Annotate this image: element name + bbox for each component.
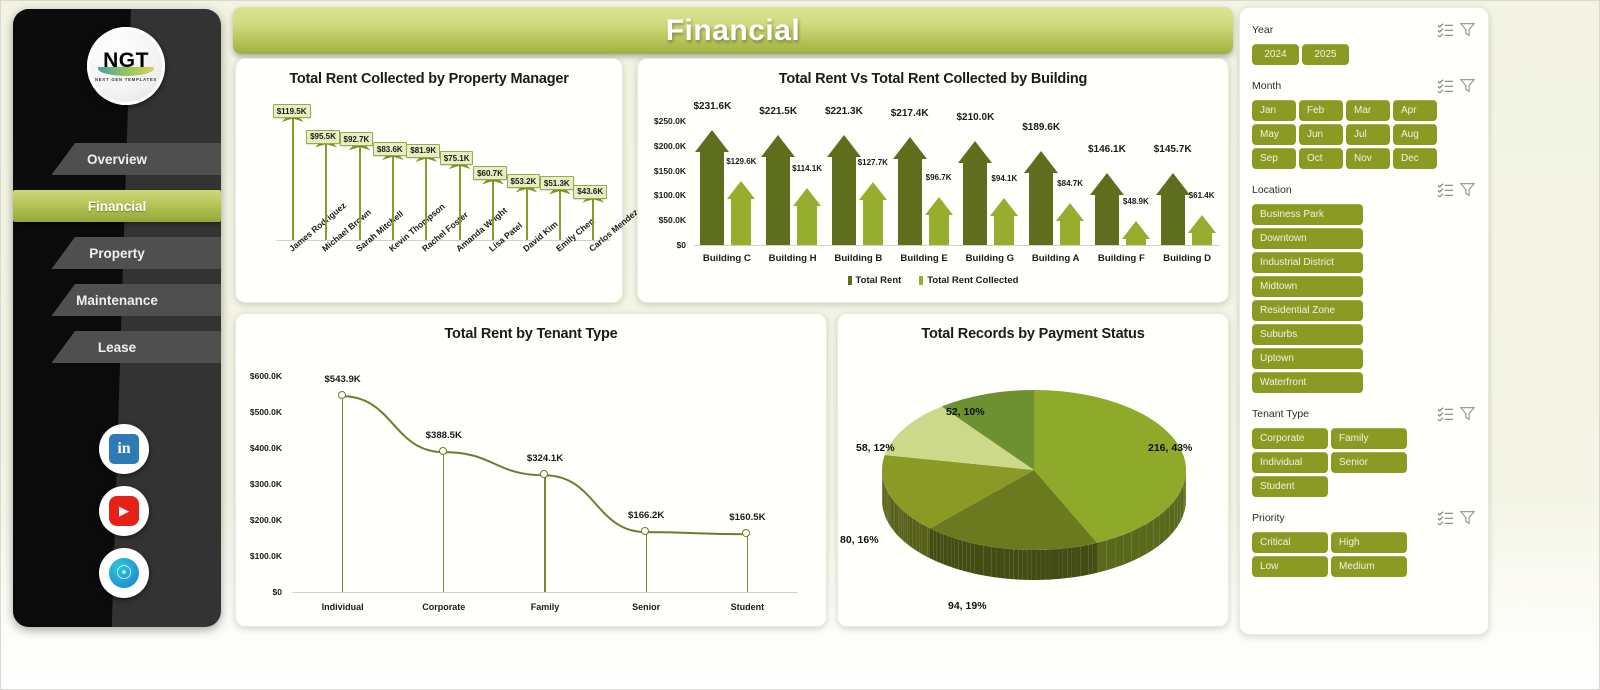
filter-chip-waterfront[interactable]: Waterfront xyxy=(1252,372,1363,393)
arrow-head xyxy=(761,135,795,157)
arrow-shaft xyxy=(1192,233,1212,245)
legend-item: Total Rent Collected xyxy=(919,275,1018,286)
data-label: $189.6K xyxy=(1007,122,1075,133)
chart-arrow-bar xyxy=(1090,173,1124,245)
x-axis-tick: Senior xyxy=(602,602,690,612)
arrow-head xyxy=(827,135,861,157)
chart-card-property-manager: Total Rent Collected by Property Manager… xyxy=(235,58,623,303)
arrow-shaft xyxy=(797,206,817,245)
filter-chip-residential-zone[interactable]: Residential Zone xyxy=(1252,300,1363,321)
x-axis-tick: Building B xyxy=(826,253,892,264)
chart-arrow-bar xyxy=(727,181,755,245)
linkedin-icon: in xyxy=(109,434,139,464)
filter-label: Year xyxy=(1252,24,1432,36)
data-label: $95.5K xyxy=(306,130,340,144)
sidebar-item-label: Lease xyxy=(98,340,136,355)
pie-chart xyxy=(838,342,1230,627)
arrow-shaft xyxy=(1126,239,1146,245)
y-axis-tick: $0 xyxy=(638,240,686,250)
filter-group-location: Location Business ParkDowntownIndustrial… xyxy=(1252,182,1476,393)
multi-select-icon[interactable] xyxy=(1437,22,1454,37)
filter-header: Month xyxy=(1252,78,1476,93)
data-label: $543.9K xyxy=(315,374,371,385)
data-label: $92.7K xyxy=(340,132,374,146)
arrow-head xyxy=(925,197,953,215)
multi-select-icon[interactable] xyxy=(1437,182,1454,197)
arrow-shaft xyxy=(863,200,883,245)
logo: NGT NEXT GEN TEMPLATES xyxy=(87,27,165,105)
sidebar-item-financial[interactable]: Financial xyxy=(13,190,221,222)
data-label: $83.6K xyxy=(373,142,407,156)
clear-filter-icon[interactable] xyxy=(1459,510,1476,525)
chart-title: Total Rent by Tenant Type xyxy=(236,314,826,342)
clear-filter-icon[interactable] xyxy=(1459,406,1476,421)
chart-stem xyxy=(292,113,294,240)
filter-chip-student[interactable]: Student xyxy=(1252,476,1328,497)
sidebar-nav: Overview Financial Property Maintenance … xyxy=(13,143,221,378)
chart-stem xyxy=(425,153,427,240)
arrow-head xyxy=(958,141,992,163)
filter-chip-apr[interactable]: Apr xyxy=(1393,100,1437,121)
chart-arrow-bar xyxy=(1024,151,1058,245)
chart-stem xyxy=(592,194,594,240)
x-axis-tick: Building F xyxy=(1089,253,1155,264)
arrow-shaft xyxy=(898,159,922,245)
x-axis-tick: Building E xyxy=(891,253,957,264)
pie-slice-label: 52, 10% xyxy=(946,406,985,418)
arrow-head xyxy=(893,137,927,159)
filter-chip-2025[interactable]: 2025 xyxy=(1302,44,1349,65)
filter-chip-may[interactable]: May xyxy=(1252,124,1296,145)
y-axis-tick: $250.0K xyxy=(638,116,686,126)
x-axis-tick: Corporate xyxy=(400,602,488,612)
filter-chip-senior[interactable]: Senior xyxy=(1331,452,1407,473)
arrow-head xyxy=(793,188,821,206)
filter-chip-jul[interactable]: Jul xyxy=(1346,124,1390,145)
legend-label: Total Rent xyxy=(856,275,902,286)
legend-swatch xyxy=(919,276,923,285)
data-label: $60.7K xyxy=(473,166,507,180)
x-axis-tick: Building D xyxy=(1154,253,1220,264)
chart-arrow-bar xyxy=(990,198,1018,245)
clear-filter-icon[interactable] xyxy=(1459,22,1476,37)
chart-plot-area: $0$50.0K$100.0K$150.0K$200.0K$250.0K$231… xyxy=(638,87,1228,302)
arrow-shaft xyxy=(1161,195,1185,245)
filter-chip-suburbs[interactable]: Suburbs xyxy=(1252,324,1363,345)
filter-chip-jun[interactable]: Jun xyxy=(1299,124,1343,145)
logo-swoosh-icon xyxy=(98,67,154,76)
arrow-head xyxy=(1122,221,1150,239)
y-axis-tick: $100.0K xyxy=(638,190,686,200)
social-links: in ▶ ☉ xyxy=(99,424,149,610)
filter-chip-oct[interactable]: Oct xyxy=(1299,148,1343,169)
data-label: $231.6K xyxy=(678,101,746,112)
logo-subtitle: NEXT GEN TEMPLATES xyxy=(95,77,157,82)
chart-arrow-bar xyxy=(893,137,927,245)
filter-header: Priority xyxy=(1252,510,1476,525)
chart-stem xyxy=(646,532,647,592)
filter-header: Year xyxy=(1252,22,1476,37)
data-point xyxy=(338,391,346,399)
filter-chip-family[interactable]: Family xyxy=(1331,428,1407,449)
legend-item: Total Rent xyxy=(848,275,902,286)
arrow-head xyxy=(1090,173,1124,195)
chart-stem xyxy=(359,141,361,240)
chart-card-building: Total Rent Vs Total Rent Collected by Bu… xyxy=(637,58,1229,303)
data-label: $53.2K xyxy=(507,174,541,188)
sidebar-item-overview[interactable]: Overview xyxy=(13,143,221,175)
website-link[interactable]: ☉ xyxy=(99,548,149,598)
chart-arrow-bar xyxy=(925,197,953,245)
y-axis-tick: $200.0K xyxy=(638,141,686,151)
filter-group-year: Year 20242025 xyxy=(1252,22,1476,65)
filter-chip-business-park[interactable]: Business Park xyxy=(1252,204,1363,225)
x-axis-tick: Individual xyxy=(299,602,387,612)
data-label: $146.1K xyxy=(1073,144,1141,155)
data-label: $75.1K xyxy=(440,151,474,165)
arrow-head xyxy=(990,198,1018,216)
data-label: $160.5K xyxy=(719,512,775,523)
chart-arrow-bar xyxy=(1188,215,1216,245)
chart-arrow-bar xyxy=(793,188,821,245)
arrow-head xyxy=(1056,203,1084,221)
filter-chip-dec[interactable]: Dec xyxy=(1393,148,1437,169)
data-label: $221.5K xyxy=(744,106,812,117)
chart-arrow-bar xyxy=(958,141,992,245)
x-axis-tick: Building G xyxy=(957,253,1023,264)
filter-chips: Business ParkDowntownIndustrial District… xyxy=(1252,204,1476,393)
filter-chip-feb[interactable]: Feb xyxy=(1299,100,1343,121)
sidebar-item-label: Overview xyxy=(87,152,147,167)
chart-stem xyxy=(526,183,528,240)
filter-chip-downtown[interactable]: Downtown xyxy=(1252,228,1363,249)
chart-plot-area: 216, 43%94, 19%80, 16%58, 12%52, 10% xyxy=(838,342,1228,627)
chart-stem xyxy=(342,396,343,592)
x-axis-label: Carlos Mendez xyxy=(587,207,640,254)
filter-group-month: Month JanFebMarAprMayJunJulAugSepOctNovD… xyxy=(1252,78,1476,169)
pie-slice-label: 80, 16% xyxy=(840,534,879,546)
filter-chips: JanFebMarAprMayJunJulAugSepOctNovDec xyxy=(1252,100,1476,169)
chart-arrow-bar xyxy=(761,135,795,245)
data-label: $51.3K xyxy=(540,176,574,190)
legend-label: Total Rent Collected xyxy=(927,275,1018,286)
arrow-shaft xyxy=(1060,221,1080,245)
filter-label: Priority xyxy=(1252,512,1432,524)
chart-arrow-bar xyxy=(1122,221,1150,245)
arrow-head xyxy=(1024,151,1058,173)
chart-title: Total Rent Vs Total Rent Collected by Bu… xyxy=(638,59,1228,87)
chart-card-tenant-type: Total Rent by Tenant Type $0$100.0K$200.… xyxy=(235,313,827,627)
filter-panel: Year 20242025 Month JanFebMarAprMayJunJu… xyxy=(1239,7,1489,635)
filter-chip-aug[interactable]: Aug xyxy=(1393,124,1437,145)
filter-chip-corporate[interactable]: Corporate xyxy=(1252,428,1328,449)
chart-arrow-bar xyxy=(695,130,729,245)
arrow-shaft xyxy=(994,216,1014,245)
x-axis-tick: Student xyxy=(703,602,791,612)
sidebar-item-maintenance[interactable]: Maintenance xyxy=(13,284,221,316)
filter-chip-critical[interactable]: Critical xyxy=(1252,532,1328,553)
chart-stem xyxy=(492,175,494,240)
filter-group-priority: Priority CriticalHighLowMedium xyxy=(1252,510,1476,577)
page-header: Financial xyxy=(233,7,1233,54)
chart-legend: Total RentTotal Rent Collected xyxy=(638,275,1228,286)
globe-icon: ☉ xyxy=(109,558,139,588)
clear-filter-icon[interactable] xyxy=(1459,182,1476,197)
chart-stem xyxy=(443,452,444,592)
filter-chip-2024[interactable]: 2024 xyxy=(1252,44,1299,65)
youtube-link[interactable]: ▶ xyxy=(99,486,149,536)
filter-chips: CorporateFamilyIndividualSeniorStudent xyxy=(1252,428,1476,497)
multi-select-icon[interactable] xyxy=(1437,78,1454,93)
filter-chip-medium[interactable]: Medium xyxy=(1331,556,1407,577)
chart-arrow-bar xyxy=(1056,203,1084,245)
chart-arrow-bar xyxy=(859,182,887,245)
chart-stem xyxy=(459,160,461,240)
filter-header: Location xyxy=(1252,182,1476,197)
x-axis-line xyxy=(694,245,1220,246)
data-label: $145.7K xyxy=(1139,144,1207,155)
chart-title: Total Rent Collected by Property Manager xyxy=(236,59,622,87)
chart-plot-area: $119.5KJames Rodriguez$95.5KMichael Brow… xyxy=(236,87,622,302)
sidebar-item-property[interactable]: Property xyxy=(13,237,221,269)
chart-stem xyxy=(747,534,748,592)
x-axis-tick: Building H xyxy=(760,253,826,264)
filter-chip-low[interactable]: Low xyxy=(1252,556,1328,577)
filter-chip-mar[interactable]: Mar xyxy=(1346,100,1390,121)
data-label: $221.3K xyxy=(810,106,878,117)
sidebar-item-label: Property xyxy=(89,246,145,261)
filter-header: Tenant Type xyxy=(1252,406,1476,421)
pie-slice-label: 216, 43% xyxy=(1148,442,1192,454)
chart-stem xyxy=(544,475,545,592)
x-axis-tick: Family xyxy=(501,602,589,612)
filter-chip-nov[interactable]: Nov xyxy=(1346,148,1390,169)
clear-filter-icon[interactable] xyxy=(1459,78,1476,93)
dashboard-page: NGT NEXT GEN TEMPLATES Overview Financia… xyxy=(0,0,1600,690)
arrow-head xyxy=(727,181,755,199)
chart-card-payment-status: Total Records by Payment Status 216, 43%… xyxy=(837,313,1229,627)
multi-select-icon[interactable] xyxy=(1437,510,1454,525)
filter-chip-midtown[interactable]: Midtown xyxy=(1252,276,1363,297)
legend-swatch xyxy=(848,276,852,285)
filter-chips: CriticalHighLowMedium xyxy=(1252,532,1476,577)
data-label: $61.4K xyxy=(1168,191,1236,200)
data-label: $166.2K xyxy=(618,510,674,521)
sidebar: NGT NEXT GEN TEMPLATES Overview Financia… xyxy=(13,9,221,627)
pie-slice-label: 58, 12% xyxy=(856,442,895,454)
filter-chip-jan[interactable]: Jan xyxy=(1252,100,1296,121)
page-title: Financial xyxy=(666,14,801,48)
x-axis-tick: Building A xyxy=(1023,253,1089,264)
linkedin-link[interactable]: in xyxy=(99,424,149,474)
chart-stem xyxy=(559,185,561,240)
arrow-head xyxy=(1188,215,1216,233)
filter-chip-sep[interactable]: Sep xyxy=(1252,148,1296,169)
filter-label: Location xyxy=(1252,184,1432,196)
arrow-shaft xyxy=(700,152,724,245)
multi-select-icon[interactable] xyxy=(1437,406,1454,421)
sidebar-item-lease[interactable]: Lease xyxy=(13,331,221,363)
chart-stem xyxy=(325,139,327,240)
chart-arrow-bar xyxy=(1156,173,1190,245)
arrow-shaft xyxy=(832,157,856,245)
data-label: $324.1K xyxy=(517,453,573,464)
chart-stem xyxy=(392,151,394,240)
sidebar-item-label: Maintenance xyxy=(76,293,158,308)
sidebar-item-label: Financial xyxy=(88,199,147,214)
filter-chip-uptown[interactable]: Uptown xyxy=(1252,348,1363,369)
y-axis-tick: $50.0K xyxy=(638,215,686,225)
chart-plot-area: $0$100.0K$200.0K$300.0K$400.0K$500.0K$60… xyxy=(236,342,826,627)
data-label: $119.5K xyxy=(273,104,311,118)
filter-label: Tenant Type xyxy=(1252,408,1432,420)
chart-title: Total Records by Payment Status xyxy=(838,314,1228,342)
data-label: $388.5K xyxy=(416,430,472,441)
y-axis-tick: $150.0K xyxy=(638,166,686,176)
data-label: $43.6K xyxy=(573,185,607,199)
arrow-head xyxy=(859,182,887,200)
data-point xyxy=(439,447,447,455)
arrow-shaft xyxy=(731,199,751,245)
filter-chips: 20242025 xyxy=(1252,44,1476,65)
filter-group-tenant-type: Tenant Type CorporateFamilyIndividualSen… xyxy=(1252,406,1476,497)
data-label: $81.9K xyxy=(406,144,440,158)
chart-arrow-bar xyxy=(827,135,861,245)
filter-chip-industrial-district[interactable]: Industrial District xyxy=(1252,252,1363,273)
arrow-head xyxy=(695,130,729,152)
filter-chip-high[interactable]: High xyxy=(1331,532,1407,553)
youtube-icon: ▶ xyxy=(109,496,139,526)
x-axis-tick: Building C xyxy=(694,253,760,264)
filter-chip-individual[interactable]: Individual xyxy=(1252,452,1328,473)
pie-slice-label: 94, 19% xyxy=(948,600,987,612)
x-axis-label: James Rodriguez xyxy=(287,200,348,253)
data-label: $210.0K xyxy=(941,112,1009,123)
data-label: $217.4K xyxy=(876,108,944,119)
arrow-shaft xyxy=(929,215,949,245)
filter-label: Month xyxy=(1252,80,1432,92)
